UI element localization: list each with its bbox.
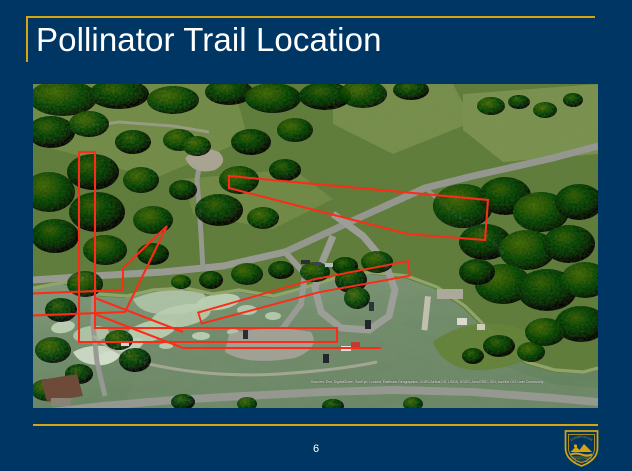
page-title: Pollinator Trail Location	[36, 20, 382, 60]
page-number: 6	[0, 443, 632, 455]
map-attribution-line-2: IGN, and the GIS User Community	[490, 380, 544, 384]
footer-accent-rule	[33, 424, 598, 426]
agency-shield-logo: CONSERVATION DEPARTMENT OF ENERGY AND EN…	[563, 428, 600, 468]
map-figure[interactable]: Sources: Esri, DigitalGlobe, GeoEye, i-c…	[33, 84, 598, 408]
aerial-imagery-map[interactable]: Sources: Esri, DigitalGlobe, GeoEye, i-c…	[33, 84, 598, 408]
map-attribution-line-1: Sources: Esri, DigitalGlobe, GeoEye, i-c…	[311, 380, 489, 384]
presentation-slide: Pollinator Trail Location	[0, 0, 632, 471]
title-accent-rule-left	[26, 16, 28, 62]
title-accent-rule-top	[26, 16, 595, 18]
